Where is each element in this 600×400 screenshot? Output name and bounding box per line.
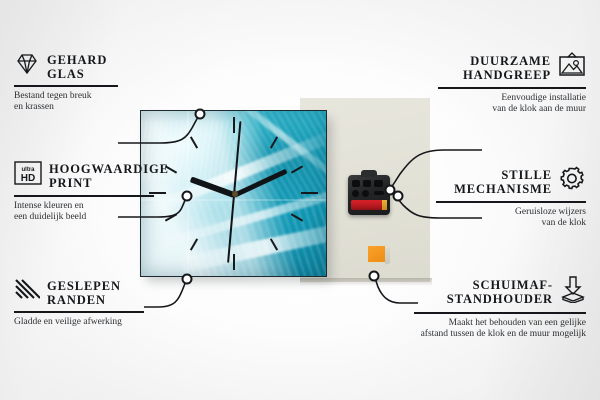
diamond-icon bbox=[14, 52, 40, 81]
feature-title: STILLE MECHANISME bbox=[454, 168, 552, 196]
gear-icon bbox=[559, 166, 586, 197]
foam-spacer bbox=[368, 246, 385, 262]
feature-desc-line1: Intense kleuren en bbox=[14, 201, 189, 213]
feature-divider bbox=[414, 312, 586, 314]
clock-tick bbox=[301, 192, 318, 194]
feature-desc-line2: afstand tussen de klok en de muur mogeli… bbox=[398, 329, 586, 341]
feature-divider bbox=[14, 311, 144, 313]
feature-desc-line2: een duidelijk beeld bbox=[14, 212, 189, 224]
clock-tick bbox=[233, 254, 235, 270]
feature-divider bbox=[438, 87, 586, 89]
feature-header: STILLE MECHANISME bbox=[420, 166, 586, 197]
feature-title: HOOGWAARDIGE PRINT bbox=[49, 162, 169, 190]
feature-desc-line1: Geruisloze wijzers bbox=[420, 207, 586, 219]
diagonal-lines-icon bbox=[14, 278, 40, 307]
feature-hoogwaardige-print: ultra HD HOOGWAARDIGE PRINT Intense kleu… bbox=[14, 160, 189, 224]
ultra-hd-icon: ultra HD bbox=[14, 160, 42, 191]
mechanism-vent bbox=[352, 190, 359, 197]
feature-geslepen-randen: GESLEPEN RANDEN Gladde en veilige afwerk… bbox=[14, 278, 189, 328]
feature-header: ultra HD HOOGWAARDIGE PRINT bbox=[14, 160, 189, 191]
mechanism-vent bbox=[374, 191, 384, 195]
feature-desc-line1: Bestand tegen breuk bbox=[14, 91, 174, 103]
feature-duurzame-handgreep: DUURZAME HANDGREEP Eenvoudige installati… bbox=[420, 52, 586, 116]
down-arrow-pad-icon bbox=[560, 276, 586, 308]
mechanism-vent bbox=[362, 190, 369, 197]
feature-title: GEHARD GLAS bbox=[47, 53, 107, 81]
hand-center-cap bbox=[232, 191, 238, 197]
infographic-canvas: GEHARD GLAS Bestand tegen breuk en krass… bbox=[0, 0, 600, 400]
feature-header: GESLEPEN RANDEN bbox=[14, 278, 189, 307]
feature-divider bbox=[14, 85, 118, 87]
feature-divider bbox=[14, 195, 154, 197]
clock-tick bbox=[233, 117, 235, 133]
feature-desc-line1: Eenvoudige installatie bbox=[420, 93, 586, 105]
feature-desc-line1: Gladde en veilige afwerking bbox=[14, 317, 189, 329]
svg-text:HD: HD bbox=[21, 173, 35, 184]
feature-desc-line1: Maakt het behouden van een gelijke bbox=[398, 318, 586, 330]
feature-title: DUURZAME HANDGREEP bbox=[463, 54, 551, 82]
battery bbox=[351, 200, 387, 210]
mechanism-hanger bbox=[361, 170, 377, 177]
feature-stille-mechanisme: STILLE MECHANISME Geruisloze wijzers van… bbox=[420, 166, 586, 230]
feature-schuimafstandhouder: SCHUIMAF- STANDHOUDER Maakt het behouden… bbox=[398, 276, 586, 341]
mechanism-vent bbox=[363, 180, 371, 187]
mechanism-vent bbox=[374, 180, 383, 187]
picture-frame-icon bbox=[558, 52, 586, 83]
feature-header: GEHARD GLAS bbox=[14, 52, 174, 81]
feature-header: DUURZAME HANDGREEP bbox=[420, 52, 586, 83]
feature-header: SCHUIMAF- STANDHOUDER bbox=[398, 276, 586, 308]
feature-gehard-glas: GEHARD GLAS Bestand tegen breuk en krass… bbox=[14, 52, 174, 114]
feature-title: SCHUIMAF- STANDHOUDER bbox=[447, 278, 553, 306]
feature-title: GESLEPEN RANDEN bbox=[47, 279, 121, 307]
feature-desc-line2: van de klok aan de muur bbox=[420, 104, 586, 116]
feature-desc-line2: en krassen bbox=[14, 102, 174, 114]
clock-mechanism bbox=[348, 175, 390, 215]
feature-divider bbox=[436, 201, 586, 203]
mechanism-vent bbox=[352, 180, 360, 187]
feature-desc-line2: van de klok bbox=[420, 218, 586, 230]
